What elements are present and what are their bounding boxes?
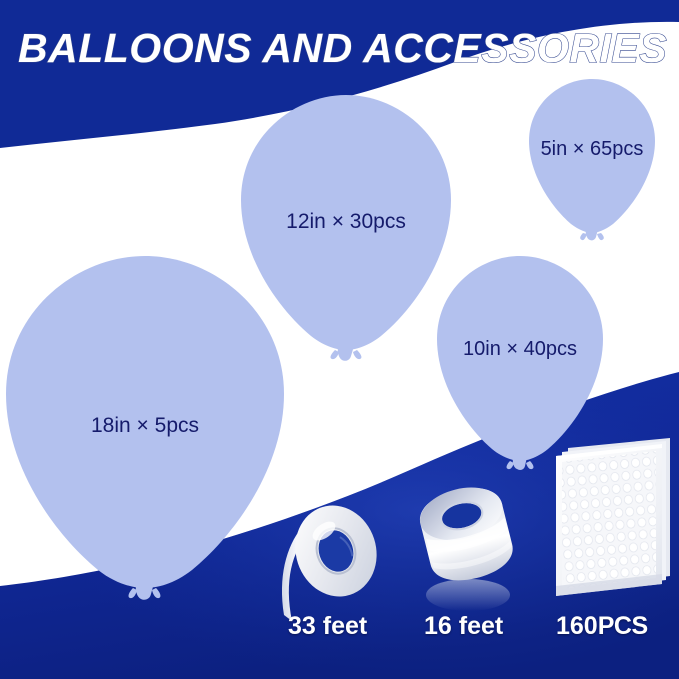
ribbon-roll (270, 495, 400, 625)
glue-dots-count: 160 (556, 612, 598, 640)
tape-roll (402, 483, 532, 615)
tape-roll-label: 16 feet (424, 612, 503, 641)
balloon-12in: 12in × 30pcs (238, 92, 454, 354)
glue-dots-unit: PCS (598, 612, 648, 640)
glue-dots-label: 160PCS (556, 612, 648, 641)
balloon-5in: 5in × 65pcs (527, 76, 657, 236)
balloon-5in-label: 5in × 65pcs (489, 138, 679, 161)
tape-reflection (426, 579, 510, 611)
balloon-12in-label: 12in × 30pcs (238, 210, 454, 234)
ribbon-roll-label: 33 feet (288, 612, 367, 641)
product-infographic: BALLOONS AND ACCESSORIES 18in × 5pcs 12i… (0, 0, 679, 679)
balloon-10in: 10in × 40pcs (434, 253, 606, 465)
balloon-18in-label: 18in × 5pcs (2, 414, 288, 438)
glue-dots (548, 436, 674, 608)
balloon-10in-label: 10in × 40pcs (406, 338, 634, 361)
